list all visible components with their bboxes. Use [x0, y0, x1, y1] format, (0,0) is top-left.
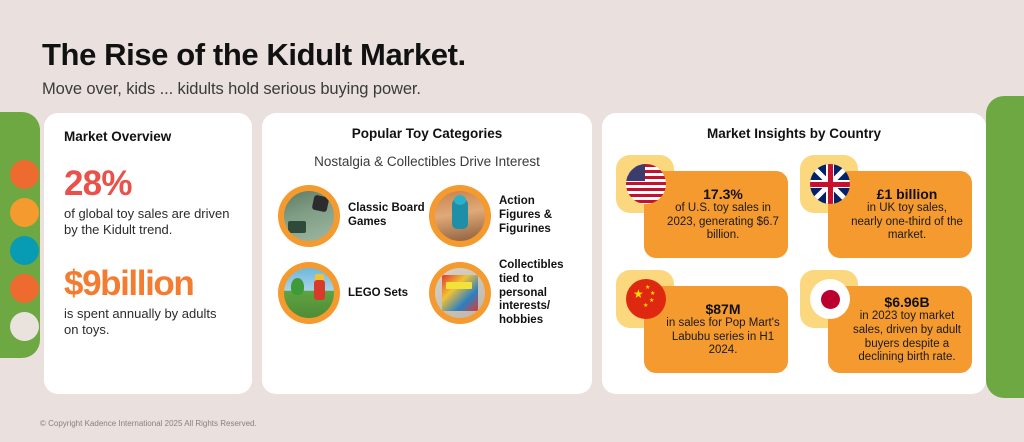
stat-description-9-billion: is spent annually by adults on toys. — [64, 306, 232, 339]
insight-description-china: in sales for Pop Mart's Labubu series in… — [666, 317, 780, 358]
insight-description-japan: in 2023 toy market sales, driven by adul… — [850, 310, 964, 365]
lego-set-thumbnail-ring — [278, 262, 340, 324]
insight-card-china: $87M in sales for Pop Mart's Labubu seri… — [616, 270, 788, 373]
china-flag-icon: ★ ★ ★ ★ ★ — [626, 279, 666, 319]
stat-description-28-percent: of global toy sales are driven by the Ki… — [64, 206, 232, 239]
dot-cream — [10, 312, 39, 341]
dot-teal — [10, 236, 39, 265]
lego-set-thumbnail — [284, 268, 334, 318]
insight-description-us: of U.S. toy sales in 2023, generating $6… — [666, 202, 780, 243]
japan-flag-icon — [810, 279, 850, 319]
market-overview-panel: Market Overview 28% of global toy sales … — [44, 113, 252, 394]
stat-block-kidult-share: 28% of global toy sales are driven by th… — [64, 166, 232, 239]
insight-description-uk: in UK toy sales, nearly one-third of the… — [850, 202, 964, 243]
dot-orange-red-1 — [10, 160, 39, 189]
stat-value-9-billion: $9billion — [64, 266, 232, 303]
category-label-board-games: Classic Board Games — [348, 202, 425, 230]
page-title: The Rise of the Kidult Market. — [42, 38, 466, 72]
comic-collectible-thumbnail — [435, 268, 485, 318]
market-overview-title: Market Overview — [64, 129, 232, 144]
category-collectibles: Collectibles tied to personal interests/… — [429, 259, 576, 328]
board-game-thumbnail-ring — [278, 185, 340, 247]
dot-amber — [10, 198, 39, 227]
decorative-dot-stack — [10, 160, 39, 341]
stat-block-annual-spend: $9billion is spent annually by adults on… — [64, 266, 232, 339]
category-label-lego-sets: LEGO Sets — [348, 287, 408, 301]
footer-copyright: © Copyright Kadence International 2025 A… — [40, 419, 257, 428]
popular-toy-categories-panel: Popular Toy Categories Nostalgia & Colle… — [262, 113, 592, 394]
action-figure-thumbnail — [435, 191, 485, 241]
toy-categories-caption: Nostalgia & Collectibles Drive Interest — [278, 154, 576, 169]
insight-card-japan: $6.96B in 2023 toy market sales, driven … — [800, 270, 972, 373]
toy-categories-grid: Classic Board Games Action Figures & Fig… — [278, 185, 576, 328]
insight-value-china: $87M — [705, 301, 740, 317]
market-insights-panel: Market Insights by Country 17.3% of U.S.… — [602, 113, 986, 394]
infographic-header: The Rise of the Kidult Market. Move over… — [42, 38, 466, 99]
category-label-collectibles: Collectibles tied to personal interests/… — [499, 259, 576, 328]
panel-row: Market Overview 28% of global toy sales … — [44, 113, 986, 394]
insight-value-japan: $6.96B — [884, 294, 929, 310]
toy-categories-title: Popular Toy Categories — [278, 126, 576, 141]
category-lego-sets: LEGO Sets — [278, 259, 425, 328]
board-game-thumbnail — [284, 191, 334, 241]
right-green-accent-bar — [986, 96, 1024, 398]
market-insights-title: Market Insights by Country — [616, 126, 972, 141]
market-insights-grid: 17.3% of U.S. toy sales in 2023, generat… — [616, 155, 972, 373]
dot-orange-red-2 — [10, 274, 39, 303]
insight-card-uk: £1 billion in UK toy sales, nearly one-t… — [800, 155, 972, 258]
category-label-action-figures: Action Figures & Figurines — [499, 195, 576, 236]
insight-card-us: 17.3% of U.S. toy sales in 2023, generat… — [616, 155, 788, 258]
category-classic-board-games: Classic Board Games — [278, 185, 425, 247]
page-subtitle: Move over, kids ... kidults hold serious… — [42, 80, 466, 99]
uk-flag-icon — [810, 164, 850, 204]
insight-value-uk: £1 billion — [877, 186, 938, 202]
comic-collectible-thumbnail-ring — [429, 262, 491, 324]
us-flag-icon — [626, 164, 666, 204]
action-figure-thumbnail-ring — [429, 185, 491, 247]
category-action-figures: Action Figures & Figurines — [429, 185, 576, 247]
insight-value-us: 17.3% — [703, 186, 743, 202]
stat-value-28-percent: 28% — [64, 166, 232, 203]
